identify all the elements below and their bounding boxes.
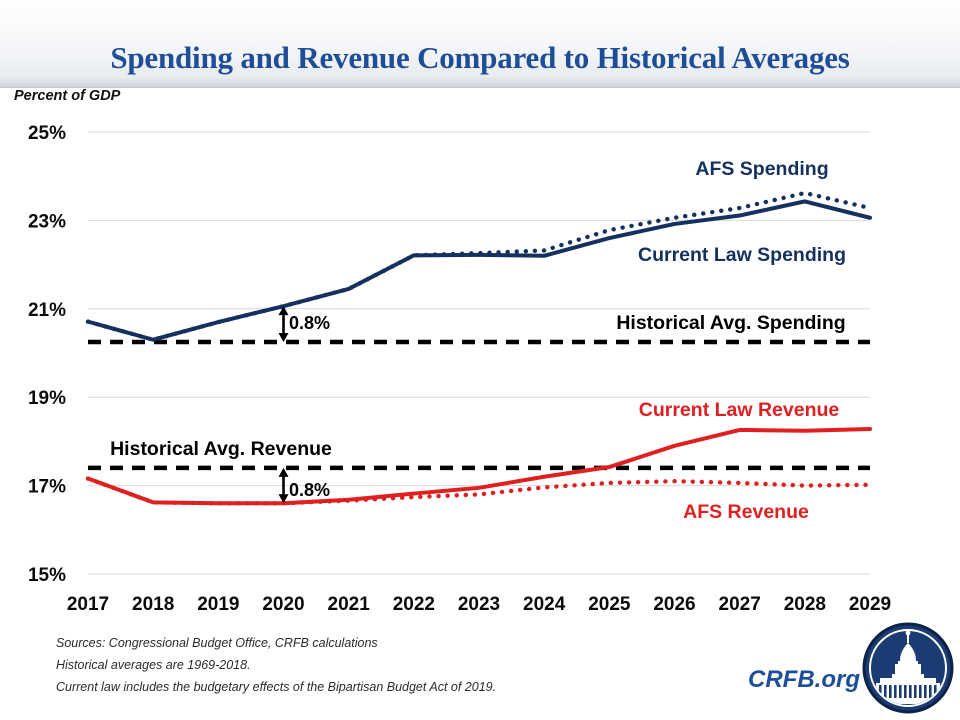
annotation-current-law-revenue: Current Law Revenue — [639, 399, 840, 421]
y-tick-25%: 25% — [28, 123, 66, 144]
y-tick-17%: 17% — [28, 477, 66, 498]
footnotes-block: Sources: Congressional Budget Office, CR… — [56, 632, 696, 698]
x-tick-2029: 2029 — [849, 594, 891, 615]
x-tick-2028: 2028 — [784, 594, 826, 615]
annotation-historical-avg-spending: Historical Avg. Spending — [616, 312, 845, 334]
x-tick-2021: 2021 — [328, 594, 371, 615]
x-tick-2023: 2023 — [458, 594, 500, 615]
annotation-afs-spending: AFS Spending — [695, 158, 828, 180]
x-tick-2020: 2020 — [262, 594, 304, 615]
x-tick-2018: 2018 — [132, 594, 174, 615]
series-afs-revenue — [88, 479, 870, 504]
x-tick-2026: 2026 — [653, 594, 695, 615]
chart-canvas: 25%23%21%19%17%15% 201720182019202020212… — [0, 0, 960, 720]
x-tick-2027: 2027 — [719, 594, 761, 615]
footnote-historical-averages: Historical averages are 1969-2018. — [56, 654, 696, 676]
crfb-logo[interactable]: CRFB.org — [744, 622, 954, 716]
y-axis-tick-labels: 25%23%21%19%17%15% — [28, 123, 66, 586]
x-tick-2022: 2022 — [393, 594, 435, 615]
annotation-historical-avg-revenue: Historical Avg. Revenue — [110, 438, 332, 460]
x-axis-tick-labels: 2017201820192020202120222023202420252026… — [67, 594, 891, 615]
annotation-current-law-spending: Current Law Spending — [638, 244, 846, 266]
y-tick-21%: 21% — [28, 300, 66, 321]
delta-label-revenue: 0.8% — [289, 480, 330, 500]
x-tick-2025: 2025 — [588, 594, 631, 615]
capitol-dome-seal-icon — [862, 622, 954, 714]
y-tick-19%: 19% — [28, 388, 66, 409]
delta-arrows-group — [279, 306, 289, 503]
y-tick-15%: 15% — [28, 565, 66, 586]
annotation-afs-revenue: AFS Revenue — [683, 501, 809, 523]
footnote-current-law: Current law includes the budgetary effec… — [56, 676, 696, 698]
y-tick-23%: 23% — [28, 211, 66, 232]
x-tick-2019: 2019 — [197, 594, 239, 615]
x-tick-2024: 2024 — [523, 594, 566, 615]
x-tick-2017: 2017 — [67, 594, 109, 615]
footnote-sources: Sources: Congressional Budget Office, CR… — [56, 632, 696, 654]
crfb-logo-text: CRFB.org — [748, 666, 860, 694]
delta-label-spending: 0.8% — [289, 313, 330, 333]
